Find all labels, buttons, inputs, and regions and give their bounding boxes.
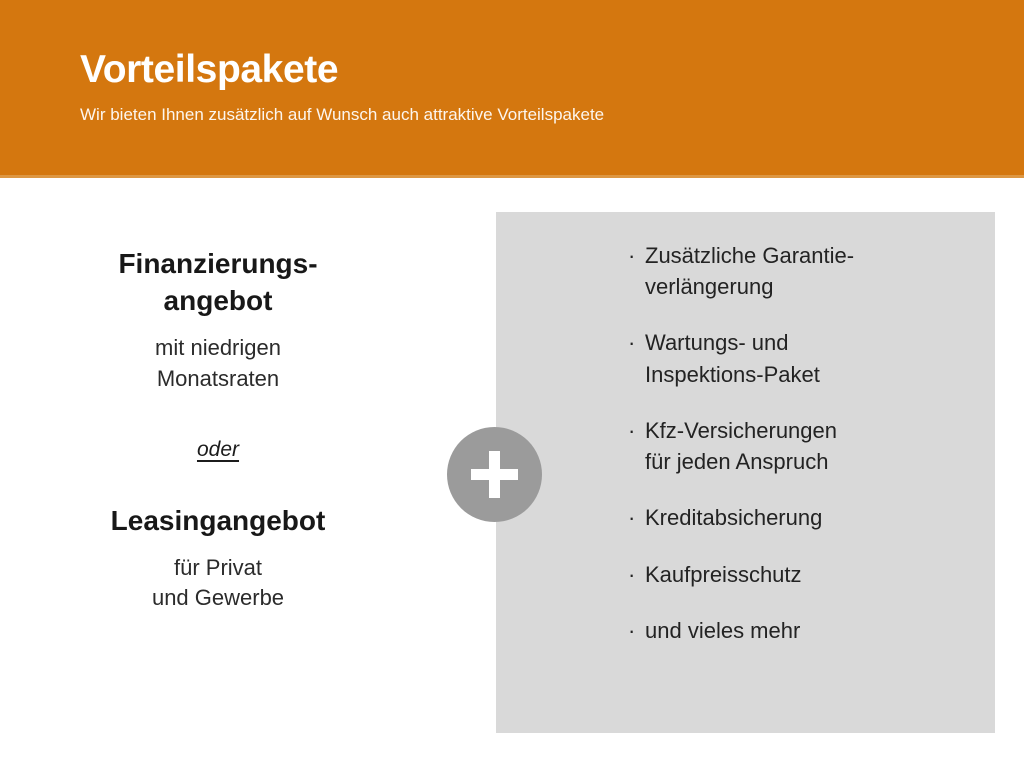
leasing-offer-heading-line-1: Leasingangebot bbox=[40, 502, 396, 539]
leasing-offer-heading: Leasingangebot bbox=[40, 502, 396, 539]
benefit-list-item-line: für jeden Anspruch bbox=[645, 446, 968, 477]
bullet-dot-icon: · bbox=[628, 615, 635, 646]
financing-offer-block: Finanzierungs- angebot mit niedrigen Mon… bbox=[40, 245, 396, 394]
benefit-list-item-line: Kreditabsicherung bbox=[645, 502, 968, 533]
page-subtitle: Wir bieten Ihnen zusätzlich auf Wunsch a… bbox=[80, 105, 604, 125]
benefits-list: ·Zusätzliche Garantie-verlängerung·Wartu… bbox=[628, 240, 968, 646]
or-divider: oder bbox=[40, 438, 396, 462]
benefit-list-item-line: Kaufpreisschutz bbox=[645, 559, 968, 590]
offers-column: Finanzierungs- angebot mit niedrigen Mon… bbox=[40, 245, 396, 613]
page-title: Vorteilspakete bbox=[80, 50, 338, 89]
bullet-dot-icon: · bbox=[628, 415, 635, 446]
leasing-offer-block: Leasingangebot für Privat und Gewerbe bbox=[40, 502, 396, 613]
financing-offer-detail-line-2: Monatsraten bbox=[40, 364, 396, 394]
financing-offer-detail: mit niedrigen Monatsraten bbox=[40, 333, 396, 393]
benefit-list-item-line: Inspektions-Paket bbox=[645, 359, 968, 390]
financing-offer-heading-line-2: angebot bbox=[40, 282, 396, 319]
benefit-list-item: ·und vieles mehr bbox=[628, 615, 968, 646]
benefit-list-item-line: Wartungs- und bbox=[645, 327, 968, 358]
bullet-dot-icon: · bbox=[628, 240, 635, 271]
leasing-offer-detail-line-1: für Privat bbox=[40, 553, 396, 583]
benefit-list-item: ·Zusätzliche Garantie-verlängerung bbox=[628, 240, 968, 302]
leasing-offer-detail-line-2: und Gewerbe bbox=[40, 583, 396, 613]
benefit-list-item-line: Kfz-Versicherungen bbox=[645, 415, 968, 446]
benefit-list-item: ·Kaufpreisschutz bbox=[628, 559, 968, 590]
or-divider-label: oder bbox=[197, 438, 239, 461]
header-band: Vorteilspakete Wir bieten Ihnen zusätzli… bbox=[0, 0, 1024, 178]
financing-offer-heading-line-1: Finanzierungs- bbox=[40, 245, 396, 282]
financing-offer-heading: Finanzierungs- angebot bbox=[40, 245, 396, 319]
financing-offer-detail-line-1: mit niedrigen bbox=[40, 333, 396, 363]
benefit-list-item-line: Zusätzliche Garantie- bbox=[645, 240, 968, 271]
plus-icon bbox=[447, 427, 542, 522]
benefit-list-item-line: verlängerung bbox=[645, 271, 968, 302]
benefits-panel: ·Zusätzliche Garantie-verlängerung·Wartu… bbox=[496, 212, 995, 733]
benefit-list-item: ·Kreditabsicherung bbox=[628, 502, 968, 533]
plus-icon-vertical-bar bbox=[489, 451, 500, 498]
benefit-list-item: ·Kfz-Versicherungenfür jeden Anspruch bbox=[628, 415, 968, 477]
leasing-offer-detail: für Privat und Gewerbe bbox=[40, 553, 396, 613]
header-bottom-edge bbox=[0, 175, 1024, 178]
benefit-list-item-line: und vieles mehr bbox=[645, 615, 968, 646]
benefit-list-item: ·Wartungs- undInspektions-Paket bbox=[628, 327, 968, 389]
bullet-dot-icon: · bbox=[628, 502, 635, 533]
bullet-dot-icon: · bbox=[628, 559, 635, 590]
bullet-dot-icon: · bbox=[628, 327, 635, 358]
